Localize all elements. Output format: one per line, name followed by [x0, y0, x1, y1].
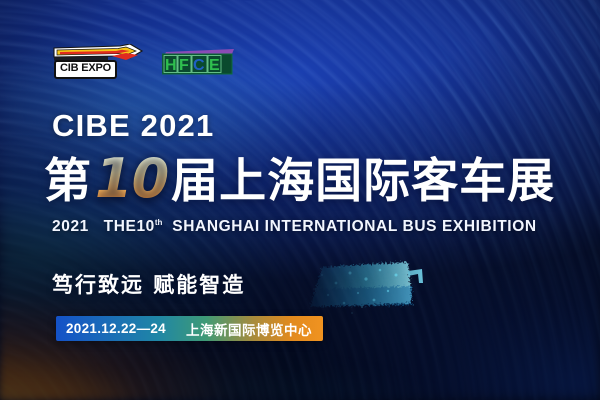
page-title: CIBE 2021: [52, 108, 214, 144]
subtitle-the: THE10: [104, 218, 155, 235]
svg-text:F: F: [179, 57, 189, 74]
headline-english: 2021 THE10th SHANGHAI INTERNATIONAL BUS …: [52, 218, 537, 236]
hfce-logo: H F C E: [162, 49, 236, 77]
svg-text:H: H: [165, 57, 177, 74]
tagline: 笃行致远 赋能智造: [52, 269, 245, 299]
event-info-bar: 2021.12.22—24 上海新国际博览中心: [56, 316, 323, 341]
subtitle-ordinal: th: [155, 218, 163, 227]
logo-row: CIB EXPO H F C E: [52, 44, 236, 82]
headline-cn-prefix: 第: [44, 158, 92, 205]
headline-cn-suffix: 届上海国际客车展: [171, 158, 555, 205]
edition-number: 10: [93, 152, 170, 206]
bus-graphic: [300, 245, 500, 330]
cib-expo-logo: CIB EXPO: [52, 44, 144, 82]
headline-chinese: 第 10 届上海国际客车展: [44, 152, 555, 206]
event-venue: 上海新国际博览中心: [186, 319, 312, 339]
poster-canvas: CIB EXPO H F C E: [0, 0, 600, 400]
event-dates: 2021.12.22—24: [66, 321, 166, 336]
subtitle-year: 2021: [52, 218, 89, 235]
cib-expo-wordmark: CIB EXPO: [54, 60, 117, 79]
svg-text:E: E: [209, 57, 220, 74]
subtitle-rest: SHANGHAI INTERNATIONAL BUS EXHIBITION: [172, 218, 536, 235]
svg-text:C: C: [193, 57, 205, 74]
